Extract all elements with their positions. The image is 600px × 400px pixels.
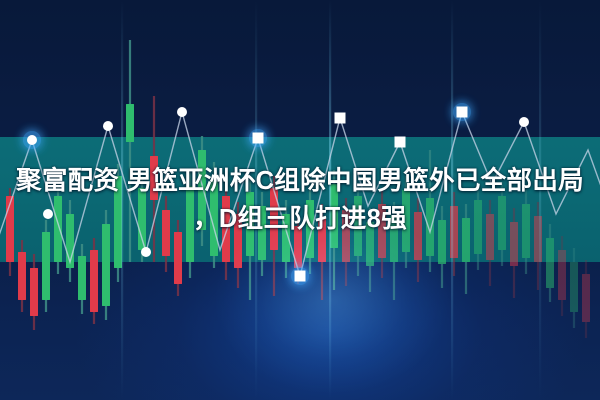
zigzag-line-chart (0, 0, 600, 400)
banner-image: 聚富配资 男篮亚洲杯C组除中国男篮外已全部出局 ，D组三队打进8强 (0, 0, 600, 400)
